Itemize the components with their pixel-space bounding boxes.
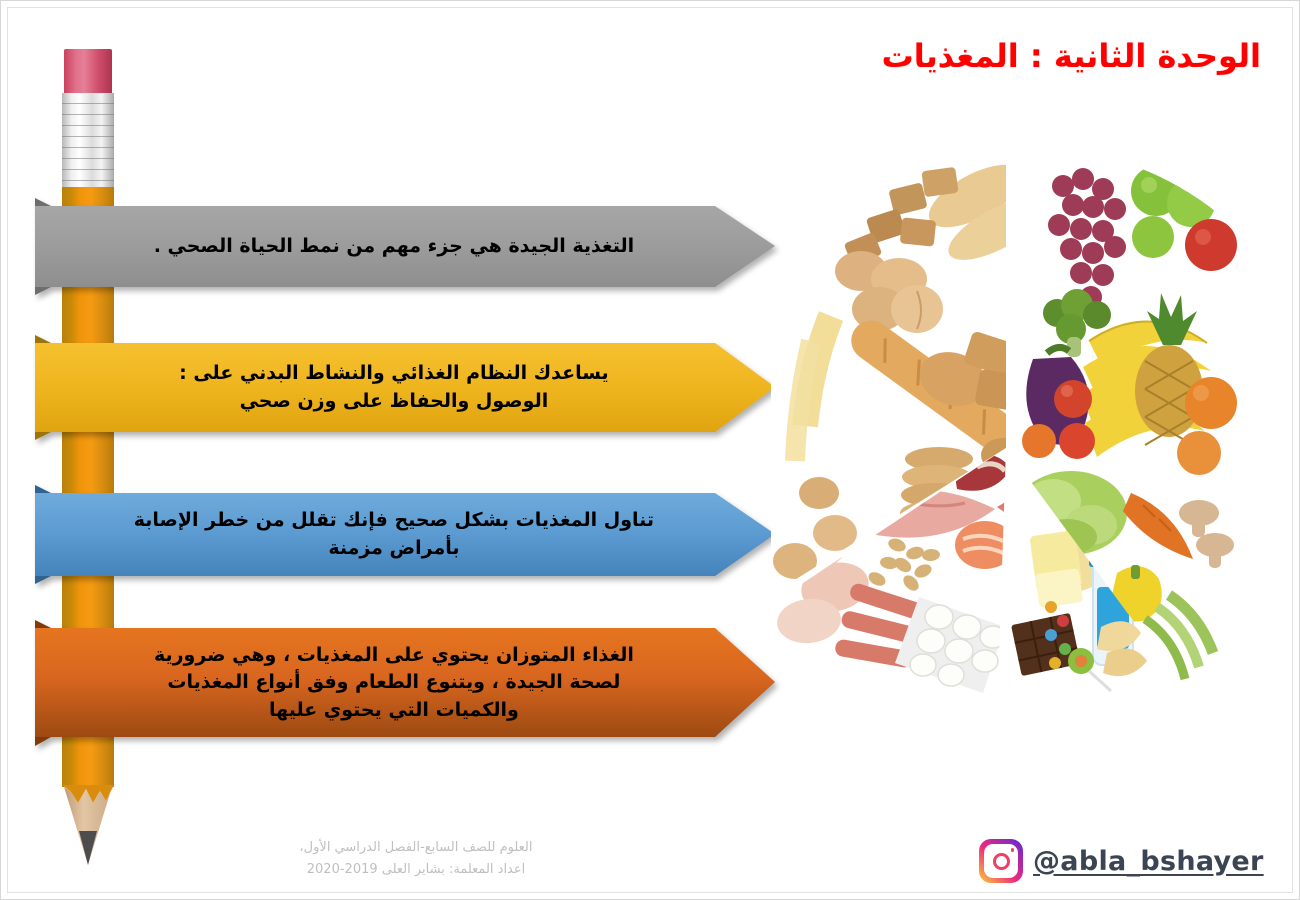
footer-credit: العلوم للصف السابع-الفصل الدراسي الأول، …	[251, 837, 581, 881]
banner-orange[interactable]: الغذاء المتوزان يحتوي على المغذيات ، وهي…	[35, 620, 775, 746]
page-title: الوحدة الثانية : المغذيات	[741, 37, 1261, 75]
instagram-handle-text[interactable]: @abla_bshayer	[1033, 846, 1264, 877]
banner-gray-text: التغذية الجيدة هي جزء مهم من نمط الحياة …	[105, 233, 682, 261]
pencil-eraser	[64, 49, 112, 95]
banner-gray[interactable]: التغذية الجيدة هي جزء مهم من نمط الحياة …	[35, 198, 775, 295]
banner-orange-text: الغذاء المتوزان يحتوي على المغذيات ، وهي…	[105, 642, 682, 725]
banner-blue[interactable]: تناول المغذيات بشكل صحيح فإنك تقلل من خط…	[35, 485, 775, 584]
food-plate-image	[771, 141, 1241, 756]
banner-yellow[interactable]: يساعدك النظام الغذائي والنشاط البدني على…	[35, 335, 775, 440]
instagram-handle[interactable]: @abla_bshayer	[979, 839, 1264, 883]
slide-canvas: الوحدة الثانية : المغذيات	[0, 0, 1300, 900]
instagram-icon	[979, 839, 1023, 883]
banner-yellow-text: يساعدك النظام الغذائي والنشاط البدني على…	[105, 360, 682, 415]
banner-blue-text: تناول المغذيات بشكل صحيح فإنك تقلل من خط…	[105, 507, 682, 562]
pencil-tip	[62, 785, 114, 859]
pencil-ferrule	[62, 93, 114, 189]
